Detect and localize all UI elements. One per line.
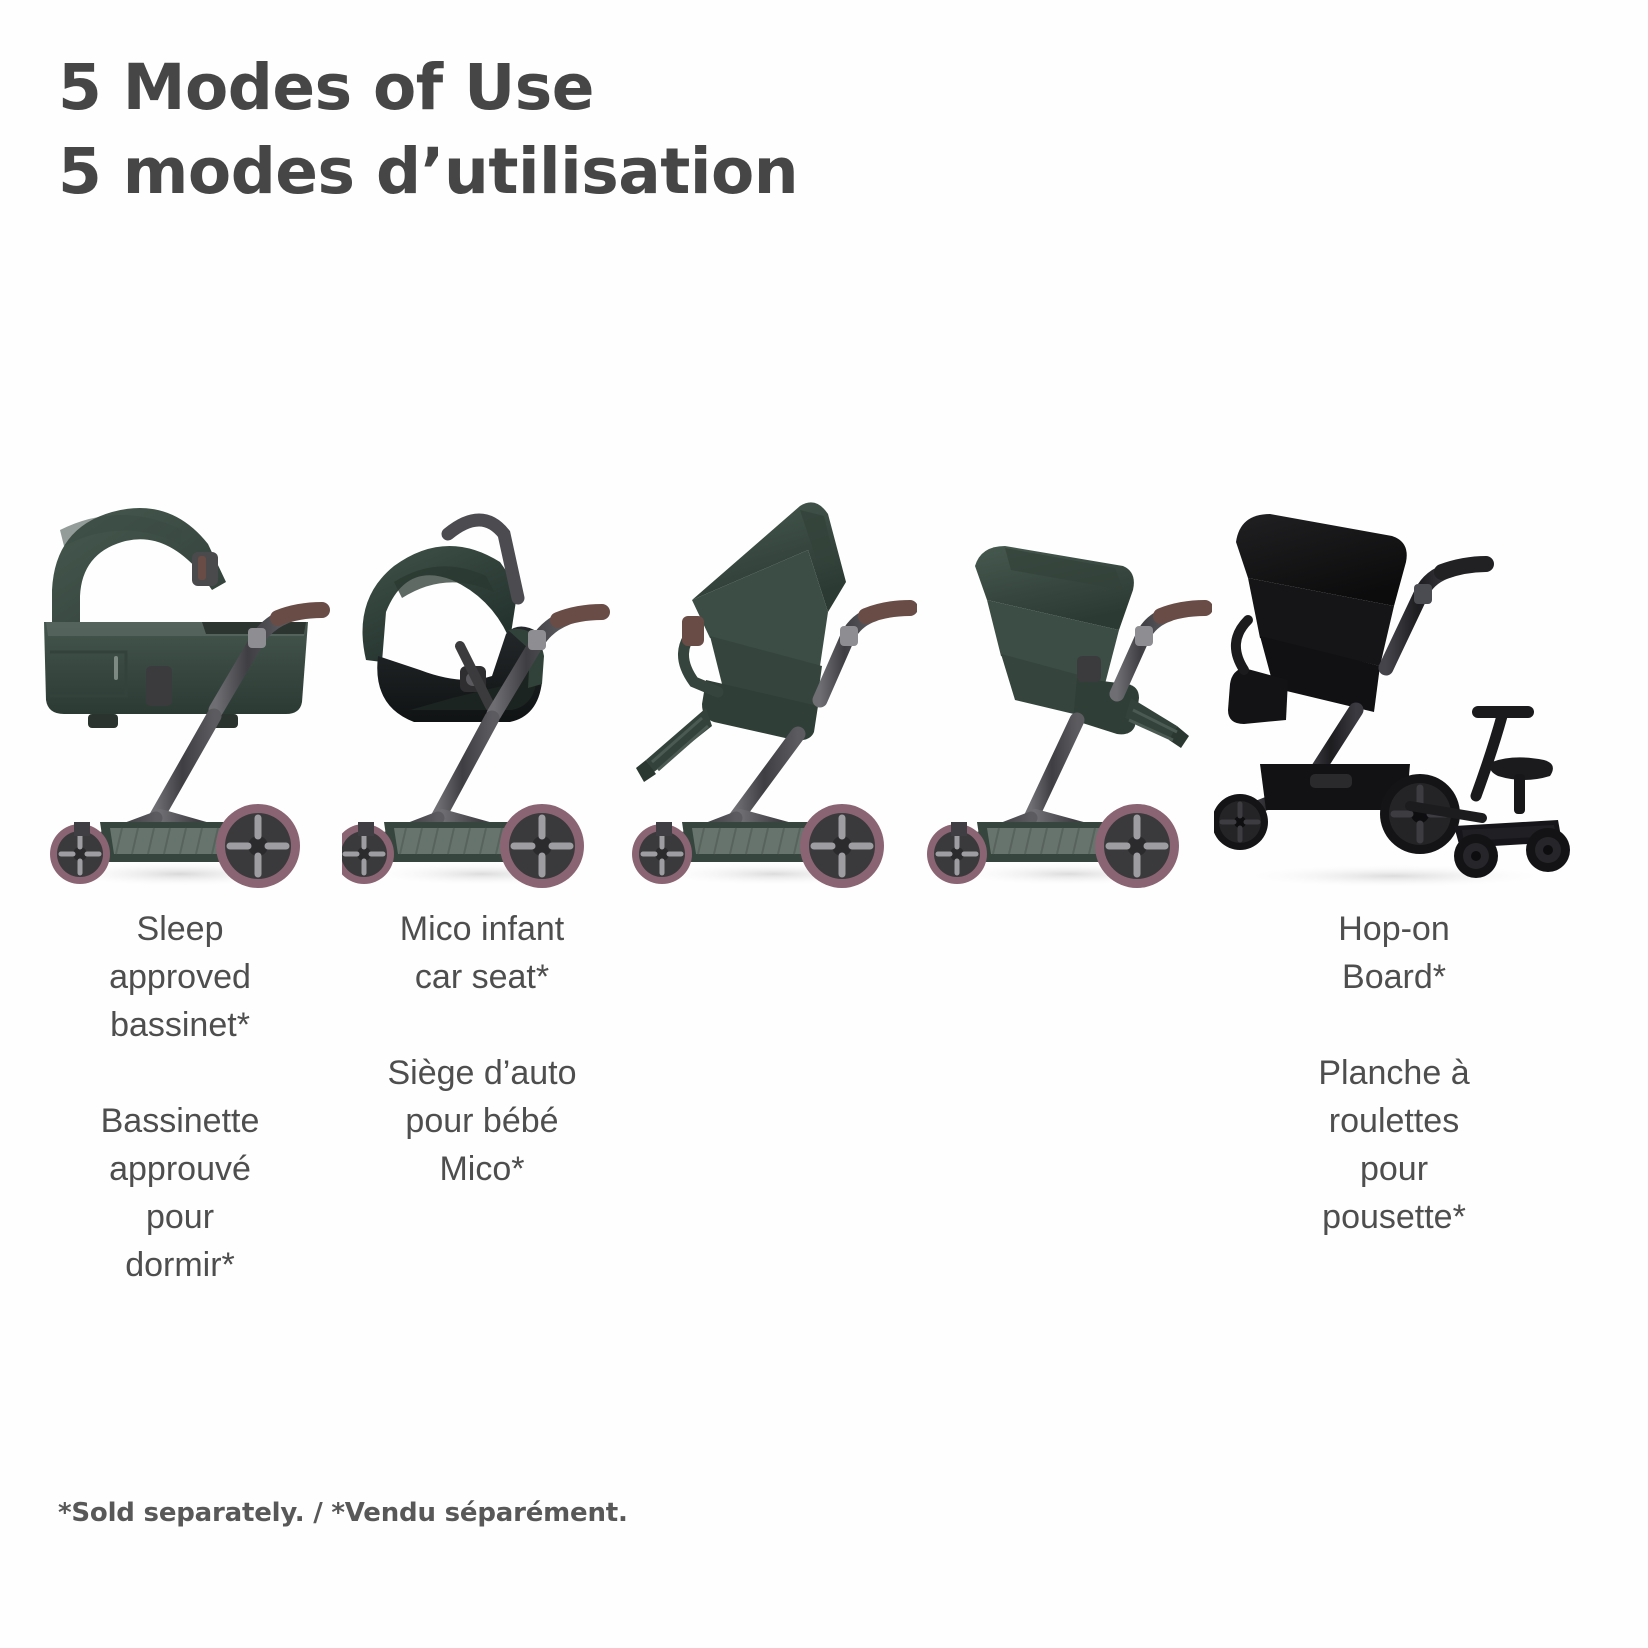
title-english: 5 Modes of Use <box>58 46 1258 130</box>
stroller-parent-facing-seat-illustration <box>927 470 1212 890</box>
stroller-forward-facing-seat-illustration <box>632 470 917 890</box>
title-french: 5 modes d’utilisation <box>58 130 1258 214</box>
product-image-infant-car-seat <box>342 460 622 890</box>
caption-hop-on-board: Hop-on Board* Planche à roulettes pour p… <box>1214 905 1574 1241</box>
infographic-page: 5 Modes of Use 5 modes d’utilisation <box>0 0 1648 1648</box>
caption-forward-facing-seat <box>632 905 917 953</box>
caption-infant-car-seat: Mico infant car seat* Siège d’auto pour … <box>342 905 622 1193</box>
caption-parent-facing-seat <box>927 905 1212 953</box>
product-image-row <box>0 460 1648 890</box>
page-title: 5 Modes of Use 5 modes d’utilisation <box>58 46 1258 214</box>
product-image-hop-on-board <box>1214 460 1574 890</box>
caption-row: Sleep approved bassinet* Bassinette appr… <box>0 905 1648 1289</box>
caption-infant-car-seat-en: Mico infant car seat* <box>342 905 622 1001</box>
caption-hop-on-board-en: Hop-on Board* <box>1214 905 1574 1001</box>
product-image-bassinet <box>30 460 330 890</box>
product-image-parent-facing-seat <box>927 460 1212 890</box>
stroller-bassinet-illustration <box>30 470 330 890</box>
product-image-forward-facing-seat <box>632 460 917 890</box>
caption-infant-car-seat-fr: Siège d’auto pour bébé Mico* <box>342 1049 622 1193</box>
stroller-hop-on-board-illustration <box>1214 470 1574 890</box>
stroller-infant-car-seat-illustration <box>342 470 622 890</box>
caption-hop-on-board-fr: Planche à roulettes pour pousette* <box>1214 1049 1574 1241</box>
caption-bassinet-fr: Bassinette approuvé pour dormir* <box>30 1097 330 1289</box>
caption-bassinet: Sleep approved bassinet* Bassinette appr… <box>30 905 330 1289</box>
footnote: *Sold separately. / *Vendu séparément. <box>58 1498 628 1528</box>
caption-bassinet-en: Sleep approved bassinet* <box>30 905 330 1049</box>
